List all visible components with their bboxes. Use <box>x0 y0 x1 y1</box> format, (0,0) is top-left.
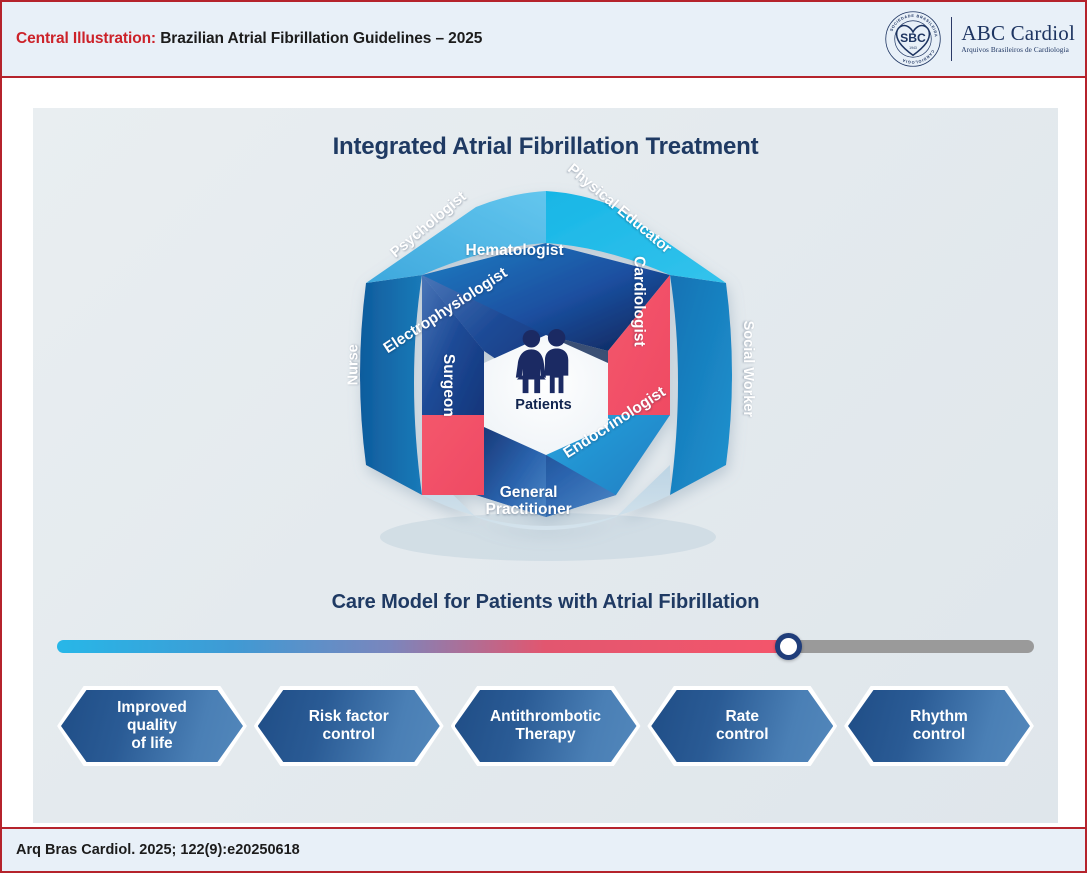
outcome-hex-antithrombotic-therapy[interactable]: Antithrombotic Therapy <box>451 686 641 766</box>
treatment-progress-slider[interactable] <box>57 634 1034 660</box>
logo-divider <box>951 17 952 61</box>
ring-segment-nurse <box>360 275 422 495</box>
ring-segment-social-worker <box>670 275 732 495</box>
svg-text:SBC: SBC <box>901 31 927 45</box>
illustration-panel: Integrated Atrial Fibrillation Treatment <box>33 108 1058 823</box>
page-body: Integrated Atrial Fibrillation Treatment <box>2 78 1085 827</box>
central-illustration-label: Central Illustration: <box>16 30 156 47</box>
slider-handle[interactable] <box>775 633 802 660</box>
page-title: Central Illustration: Brazilian Atrial F… <box>16 30 482 48</box>
sbc-seal-icon: SBC 1943 SOCIEDADE BRASILEIRA DE CARDIOL… <box>884 10 942 68</box>
page-footer: Arq Bras Cardiol. 2025; 122(9):e20250618 <box>2 827 1085 871</box>
outcome-hex-rhythm-control[interactable]: Rhythm control <box>844 686 1034 766</box>
panel-title: Integrated Atrial Fibrillation Treatment <box>33 108 1058 161</box>
care-team-wheel: Psychologist Physical Educator Social Wo… <box>326 165 766 575</box>
wheel-diagram <box>326 165 766 575</box>
outcome-hex-improved-quality-of-life[interactable]: Improved quality of life <box>57 686 247 766</box>
outcome-label: Antithrombotic Therapy <box>484 708 607 745</box>
outcome-label: Risk factor control <box>303 708 395 745</box>
outcome-hex-row: Improved quality of life Risk factor con… <box>57 686 1034 766</box>
citation-text: Arq Bras Cardiol. 2025; 122(9):e20250618 <box>16 842 300 858</box>
slider-track[interactable] <box>57 640 1034 653</box>
central-illustration-page: Central Illustration: Brazilian Atrial F… <box>0 0 1087 873</box>
journal-subtitle: Arquivos Brasileiros de Cardiologia <box>961 47 1075 54</box>
page-header: Central Illustration: Brazilian Atrial F… <box>2 2 1085 78</box>
guideline-title: Brazilian Atrial Fibrillation Guidelines… <box>160 30 482 47</box>
journal-logo: SBC 1943 SOCIEDADE BRASILEIRA DE CARDIOL… <box>884 10 1075 68</box>
outcome-label: Rate control <box>710 708 775 745</box>
outcome-hex-risk-factor-control[interactable]: Risk factor control <box>254 686 444 766</box>
outcome-hex-rate-control[interactable]: Rate control <box>647 686 837 766</box>
svg-text:1943: 1943 <box>910 46 918 50</box>
outcome-label: Improved quality of life <box>111 699 193 754</box>
journal-name-block: ABC Cardiol Arquivos Brasileiros de Card… <box>961 23 1075 54</box>
panel-subtitle: Care Model for Patients with Atrial Fibr… <box>33 591 1058 614</box>
hex-segment-surgeon <box>422 415 484 495</box>
outcome-label: Rhythm control <box>904 708 974 745</box>
journal-name: ABC Cardiol <box>961 23 1075 44</box>
